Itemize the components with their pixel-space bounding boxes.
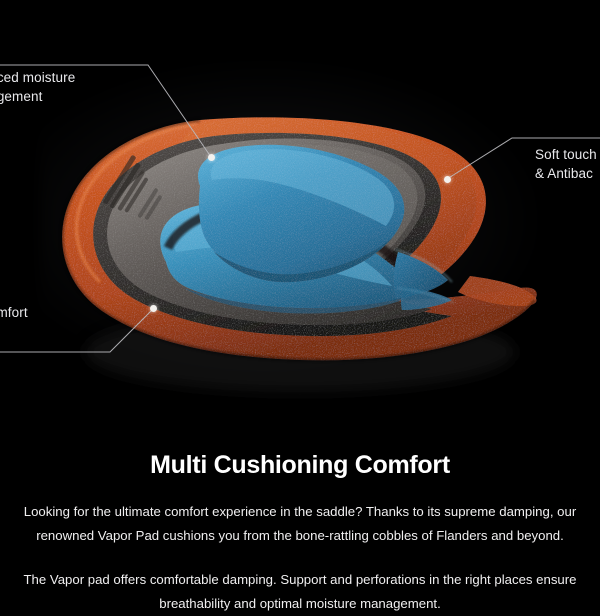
callout-label-moisture: hanced moisture anagement [0, 68, 75, 106]
body-paragraph-1: Looking for the ultimate comfort experie… [8, 500, 592, 548]
callout-label-soft-touch: Soft touch & Antibac [535, 145, 597, 183]
product-hero: hanced moisture anagement Soft touch & A… [0, 0, 600, 430]
callout-dot-soft-touch [444, 176, 451, 183]
page-title: Multi Cushioning Comfort [8, 448, 592, 482]
callout-dot-moisture [208, 154, 215, 161]
copy-block: Multi Cushioning Comfort Looking for the… [0, 432, 600, 616]
body-paragraph-2: The Vapor pad offers comfortable damping… [8, 568, 592, 616]
callout-leader-lines [0, 0, 600, 430]
callout-dot-comfort [150, 305, 157, 312]
callout-label-comfort: comfort [0, 303, 28, 322]
